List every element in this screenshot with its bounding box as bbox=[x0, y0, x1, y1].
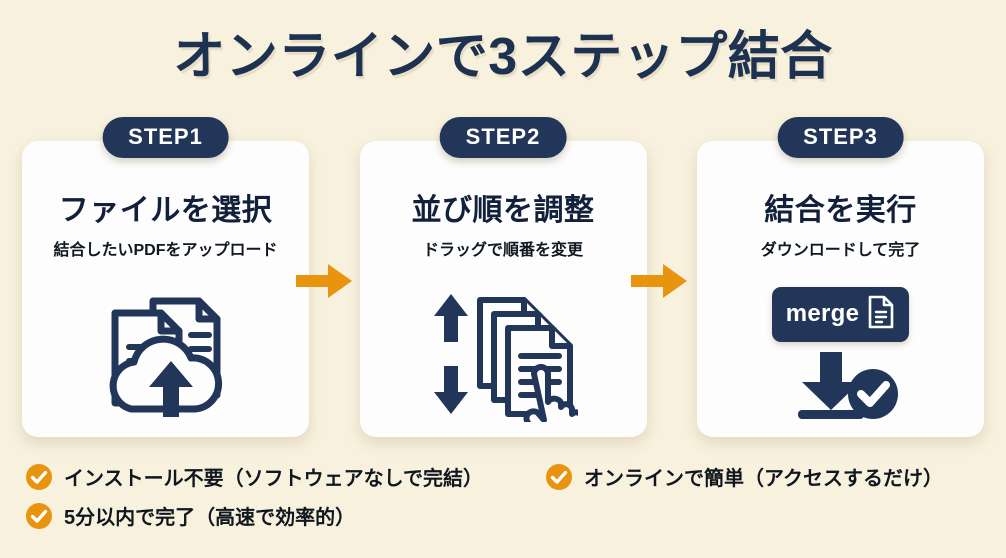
documents-cloud-upload-icon bbox=[22, 274, 309, 437]
merge-download-complete-icon: merge bbox=[697, 274, 984, 437]
benefit-item: インストール不要（ソフトウェアなしで完結） bbox=[26, 462, 546, 491]
step-card-1[interactable]: STEP1 ファイルを選択 結合したいPDFをアップロード bbox=[22, 141, 309, 437]
merge-chip[interactable]: merge bbox=[772, 287, 910, 342]
merge-chip-label: merge bbox=[786, 300, 860, 328]
steps-row: STEP1 ファイルを選択 結合したいPDFをアップロード bbox=[22, 141, 984, 437]
benefit-label: オンラインで簡単（アクセスするだけ） bbox=[584, 462, 943, 491]
step-title-1: ファイルを選択 bbox=[59, 185, 273, 229]
document-icon bbox=[867, 295, 895, 334]
arrow-step2-to-step3 bbox=[631, 262, 687, 300]
check-circle-icon bbox=[26, 503, 52, 529]
benefit-label: インストール不要（ソフトウェアなしで完結） bbox=[64, 462, 483, 491]
step-subtitle-3: ダウンロードして完了 bbox=[761, 236, 921, 260]
step-card-3[interactable]: STEP3 結合を実行 ダウンロードして完了 merge bbox=[697, 141, 984, 437]
infographic-page: オンラインで3ステップ結合 STEP1 ファイルを選択 結合したいPDFをアップ… bbox=[0, 0, 1006, 558]
benefits-column-right: オンラインで簡単（アクセスするだけ） bbox=[546, 462, 976, 501]
reorder-documents-drag-hand-icon bbox=[360, 274, 647, 437]
step-badge-1: STEP1 bbox=[102, 117, 229, 158]
benefits-column-left: インストール不要（ソフトウェアなしで完結） 5分以内で完了（高速で効率的） bbox=[26, 462, 546, 540]
benefits-list: インストール不要（ソフトウェアなしで完結） 5分以内で完了（高速で効率的） bbox=[26, 462, 986, 540]
step-title-3: 結合を実行 bbox=[764, 185, 917, 229]
arrow-step1-to-step2 bbox=[296, 262, 352, 300]
benefit-item: オンラインで簡単（アクセスするだけ） bbox=[546, 462, 976, 491]
download-complete-icon bbox=[780, 348, 900, 425]
step-subtitle-2: ドラッグで順番を変更 bbox=[423, 236, 583, 260]
step-card-2[interactable]: STEP2 並び順を調整 ドラッグで順番を変更 bbox=[360, 141, 647, 437]
step-badge-3: STEP3 bbox=[777, 117, 904, 158]
benefit-item: 5分以内で完了（高速で効率的） bbox=[26, 501, 546, 530]
page-title: オンラインで3ステップ結合 bbox=[0, 14, 1006, 89]
check-circle-icon bbox=[546, 464, 572, 490]
benefit-label: 5分以内で完了（高速で効率的） bbox=[64, 501, 355, 530]
check-circle-icon bbox=[26, 464, 52, 490]
step-badge-2: STEP2 bbox=[440, 117, 567, 158]
step-title-2: 並び順を調整 bbox=[412, 185, 595, 229]
step-subtitle-1: 結合したいPDFをアップロード bbox=[53, 236, 277, 260]
